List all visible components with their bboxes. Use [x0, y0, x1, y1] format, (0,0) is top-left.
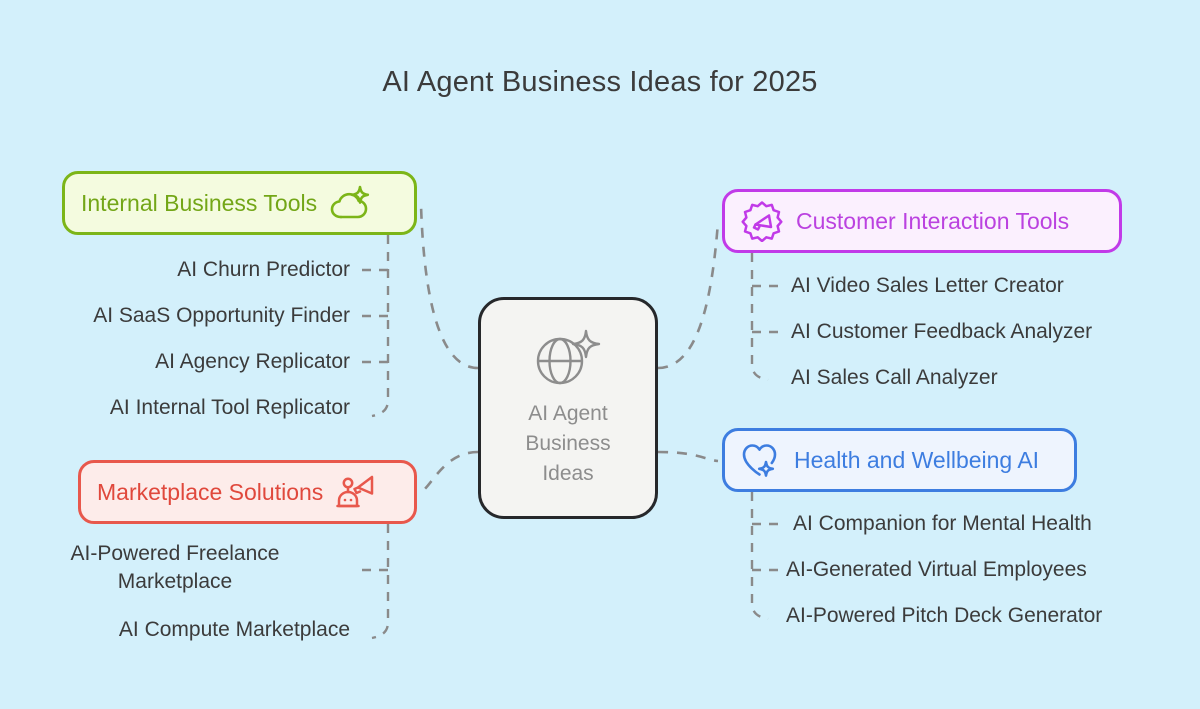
wire-center-to-marketplace	[421, 452, 478, 492]
wire-center-to-customer	[658, 222, 718, 368]
leaf-item[interactable]: AI Churn Predictor	[0, 256, 350, 284]
leaf-item[interactable]: AI Video Sales Letter Creator	[791, 272, 1191, 300]
wire-trunk-internal	[372, 235, 388, 416]
leaf-item[interactable]: AI SaaS Opportunity Finder	[0, 302, 350, 330]
branch-label: Marketplace Solutions	[97, 479, 323, 506]
wire-trunk-marketplace	[372, 524, 388, 638]
leaf-item[interactable]: AI Companion for Mental Health	[793, 510, 1193, 538]
center-node-label: AI Agent Business Ideas	[525, 399, 610, 489]
heart-sparkle-icon	[741, 441, 781, 479]
leaf-item[interactable]: AI-Generated Virtual Employees	[786, 556, 1186, 584]
leaf-item[interactable]: AI Internal Tool Replicator	[0, 394, 350, 422]
center-node[interactable]: AI Agent Business Ideas	[478, 297, 658, 519]
leaf-item[interactable]: AI Sales Call Analyzer	[791, 364, 1191, 392]
wire-trunk-health	[752, 492, 768, 619]
leaf-item[interactable]: AI Agency Replicator	[0, 348, 350, 376]
leaf-item[interactable]: AI-Powered Freelance Marketplace	[0, 540, 350, 596]
cloud-sparkle-icon	[330, 185, 370, 221]
branch-customer-interaction-tools[interactable]: Customer Interaction Tools	[722, 189, 1122, 253]
branch-marketplace-solutions[interactable]: Marketplace Solutions	[78, 460, 417, 524]
wire-center-to-internal	[421, 205, 478, 368]
branch-label: Customer Interaction Tools	[796, 208, 1069, 235]
branch-label: Health and Wellbeing AI	[794, 447, 1039, 474]
branch-internal-business-tools[interactable]: Internal Business Tools	[62, 171, 417, 235]
leaf-item[interactable]: AI Customer Feedback Analyzer	[791, 318, 1191, 346]
robot-megaphone-icon	[336, 473, 376, 511]
wire-trunk-customer	[752, 253, 768, 380]
page-title: AI Agent Business Ideas for 2025	[0, 66, 1200, 99]
gear-megaphone-icon	[741, 200, 783, 242]
leaf-item[interactable]: AI-Powered Pitch Deck Generator	[786, 602, 1186, 630]
branch-health-and-wellbeing-ai[interactable]: Health and Wellbeing AI	[722, 428, 1077, 492]
leaf-item[interactable]: AI Compute Marketplace	[0, 616, 350, 644]
mindmap-canvas: AI Agent Business Ideas for 2025 AI Agen…	[0, 0, 1200, 709]
wire-center-to-health	[658, 452, 718, 461]
globe-sparkle-icon	[532, 327, 604, 389]
branch-label: Internal Business Tools	[81, 190, 317, 217]
